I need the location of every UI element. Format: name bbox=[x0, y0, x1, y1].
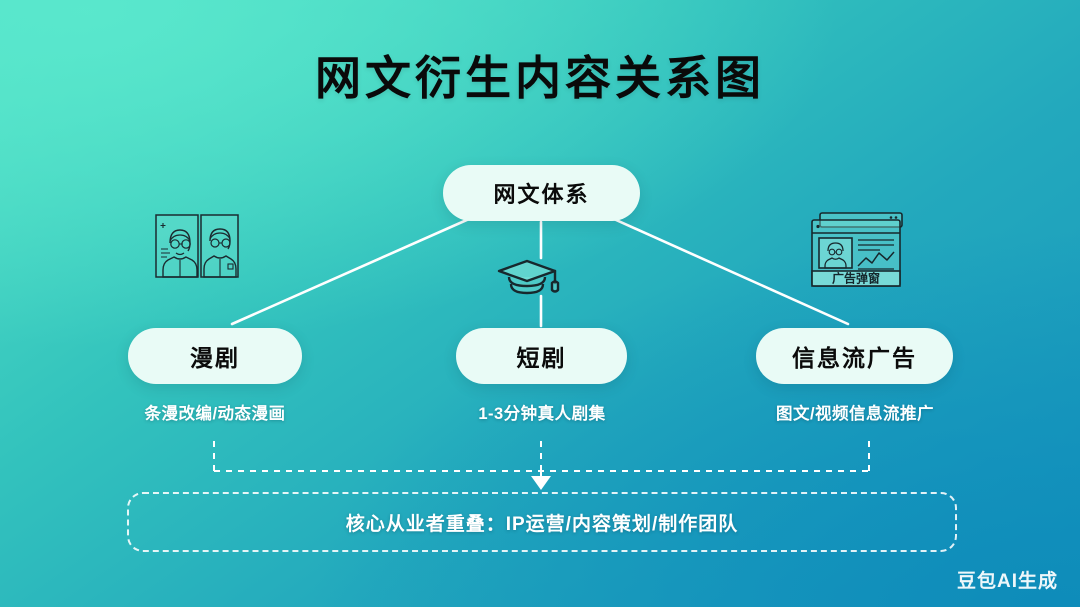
node-branch-short-drama[interactable]: 短剧 bbox=[456, 328, 627, 384]
ad-popup-label: 广告弹窗 bbox=[832, 271, 880, 286]
node-root[interactable]: 网文体系 bbox=[443, 165, 640, 221]
node-branch-short-drama-label: 短剧 bbox=[517, 339, 567, 373]
node-branch-comic-drama-label: 漫剧 bbox=[190, 339, 240, 373]
watermark: 豆包AI生成 bbox=[957, 566, 1058, 593]
ad-popup-window-illustration: 广告弹窗 bbox=[808, 209, 908, 291]
comic-panels-illustration bbox=[152, 209, 242, 291]
node-branch-feed-ads[interactable]: 信息流广告 bbox=[756, 328, 953, 384]
caption-feed-ads: 图文/视频信息流推广 bbox=[695, 400, 1015, 424]
node-root-label: 网文体系 bbox=[493, 177, 589, 209]
node-branch-feed-ads-label: 信息流广告 bbox=[792, 339, 917, 373]
bottom-summary-label: 核心从业者重叠：IP运营/内容策划/制作团队 bbox=[346, 509, 739, 536]
caption-short-drama: 1-3分钟真人剧集 bbox=[382, 400, 702, 424]
caption-comic-drama: 条漫改编/动态漫画 bbox=[55, 400, 375, 424]
down-arrow-icon bbox=[531, 476, 551, 490]
node-branch-comic-drama[interactable]: 漫剧 bbox=[128, 328, 302, 384]
connector-root-to-left bbox=[232, 215, 478, 324]
infographic-canvas: 网文衍生内容关系图 网文体系 漫剧 短剧 信息流广告 条漫改编/动态漫画 1-3… bbox=[0, 0, 1080, 607]
page-title: 网文衍生内容关系图 bbox=[0, 50, 1080, 108]
bottom-summary-bar: 核心从业者重叠：IP运营/内容策划/制作团队 bbox=[127, 492, 957, 552]
graduation-cap-icon bbox=[497, 256, 585, 300]
